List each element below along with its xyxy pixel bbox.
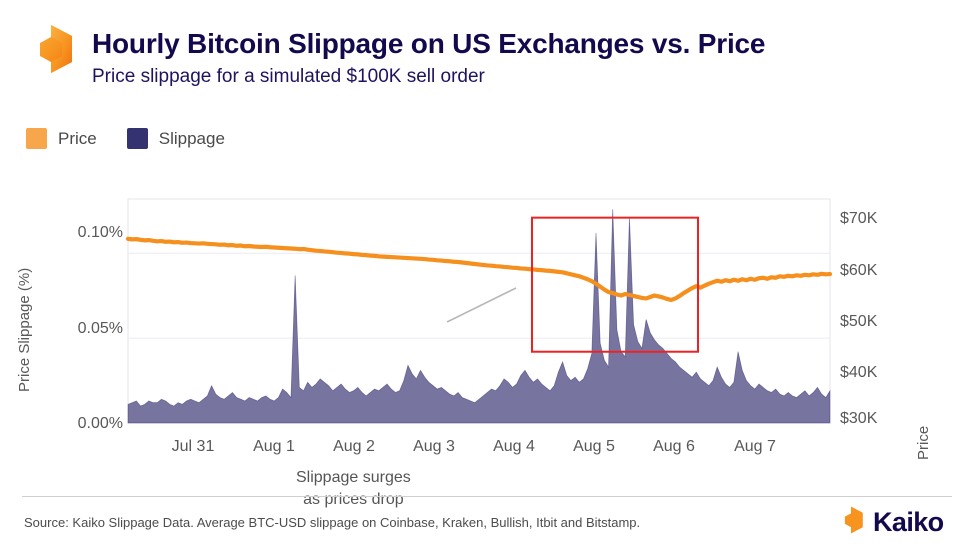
footer-source-text: Source: Kaiko Slippage Data. Average BTC… <box>24 515 640 530</box>
legend-swatch-slippage-icon <box>127 128 148 149</box>
footer-logo: Kaiko <box>836 505 944 540</box>
legend-item-slippage[interactable]: Slippage <box>127 128 225 149</box>
kaiko-hexagon-logo-icon <box>24 22 78 76</box>
chart-legend: Price Slippage <box>26 128 225 149</box>
legend-label-price: Price <box>58 129 97 149</box>
chart-container: Price Slippage (%) Price 0.00% 0.05% 0.1… <box>0 170 974 480</box>
page-header: Hourly Bitcoin Slippage on US Exchanges … <box>0 0 974 110</box>
chart-annotation: Slippage surges as prices drop <box>296 467 411 511</box>
footer-wordmark: Kaiko <box>873 509 944 536</box>
title-block: Hourly Bitcoin Slippage on US Exchanges … <box>92 27 765 90</box>
legend-item-price[interactable]: Price <box>26 128 97 149</box>
kaiko-hexagon-logo-icon-footer <box>836 505 866 540</box>
page-title: Hourly Bitcoin Slippage on US Exchanges … <box>92 27 765 61</box>
legend-swatch-price-icon <box>26 128 47 149</box>
footer-divider <box>22 496 952 497</box>
annotation-line-1: Slippage surges <box>296 469 411 486</box>
plot-area <box>0 170 974 470</box>
annotation-line-2: as prices drop <box>303 491 404 508</box>
page-subtitle: Price slippage for a simulated $100K sel… <box>92 64 765 90</box>
legend-label-slippage: Slippage <box>159 129 225 149</box>
